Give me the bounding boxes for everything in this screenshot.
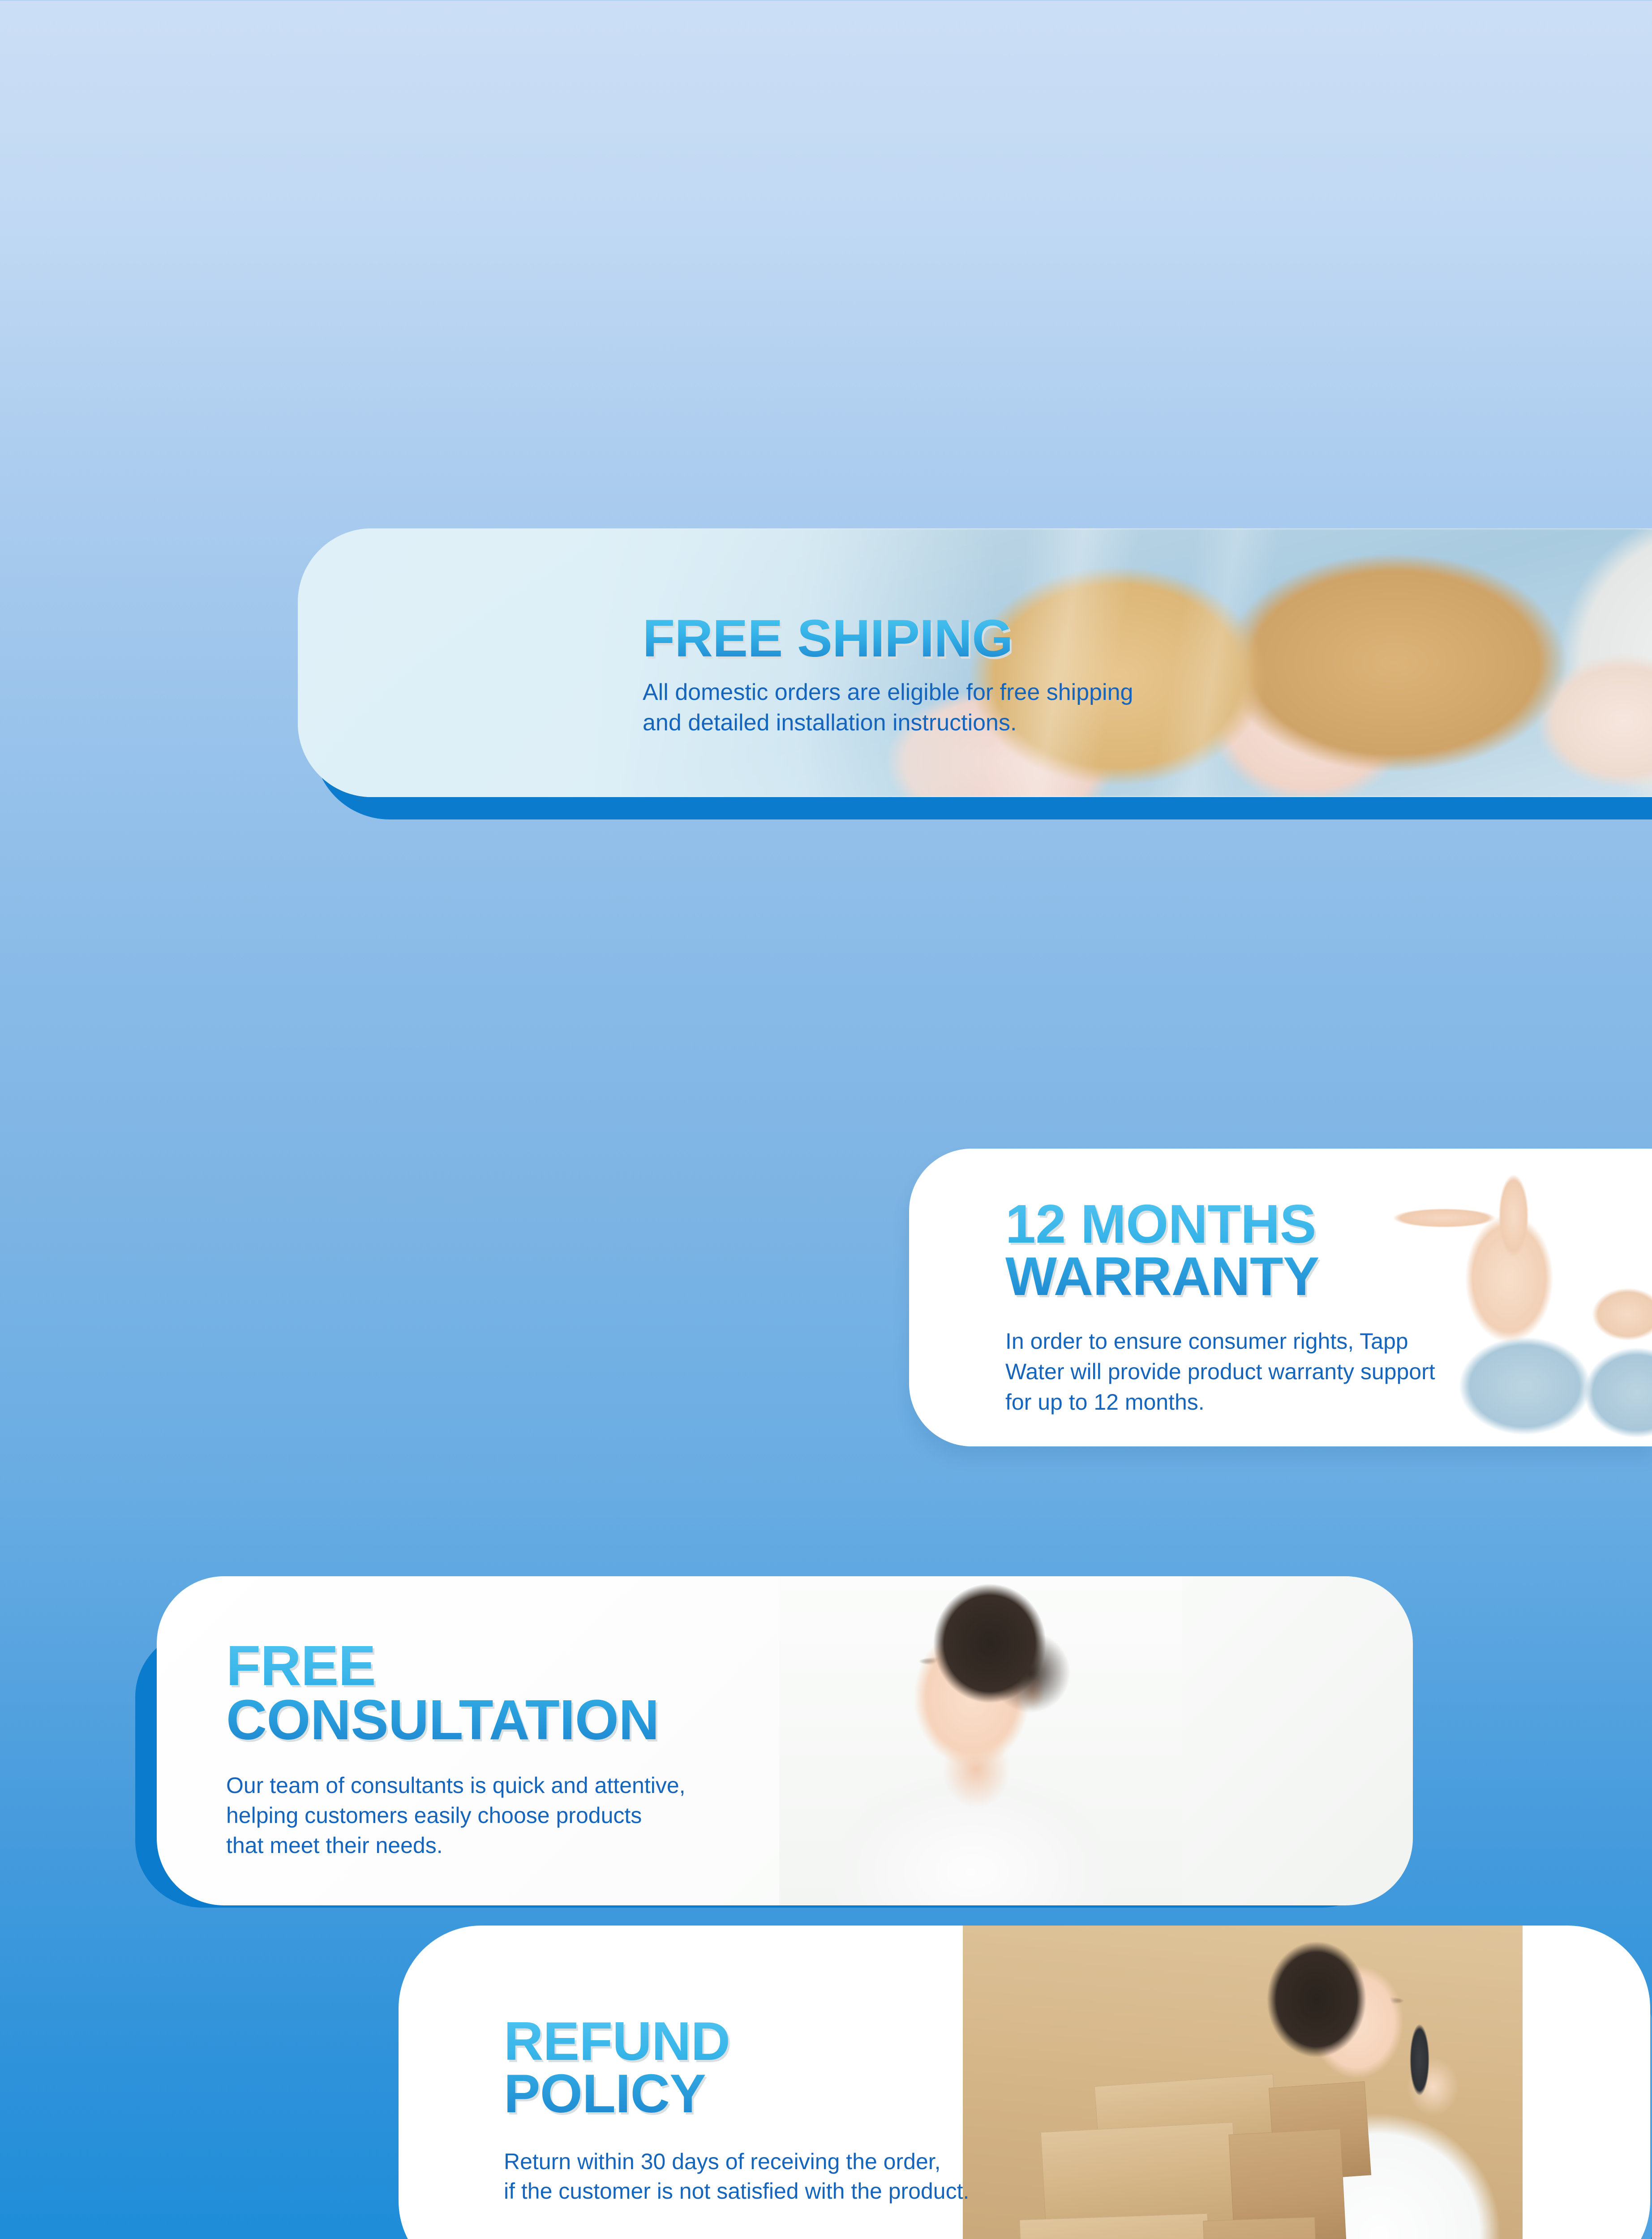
warranty-card[interactable]: 12 MONTHS WARRANTY In order to ensure co…	[909, 1149, 1652, 1446]
refund-policy-body: Return within 30 days of receiving the o…	[504, 2147, 969, 2206]
warranty-body: In order to ensure consumer rights, Tapp…	[1005, 1326, 1435, 1417]
promo-banner-stage: FREE SHIPING All domestic orders are eli…	[0, 0, 1652, 2239]
free-consultation-title: FREE CONSULTATION	[226, 1639, 686, 1747]
free-consultation-body: Our team of consultants is quick and att…	[226, 1771, 686, 1861]
free-consultation-card[interactable]: FREE CONSULTATION Our team of consultant…	[157, 1576, 1413, 1905]
free-consultation-text-block: FREE CONSULTATION Our team of consultant…	[226, 1639, 686, 1861]
woman-on-phone-with-boxes-photo	[963, 1926, 1523, 2239]
smiling-consultant-woman-photo	[779, 1576, 1182, 1905]
warranty-text-block: 12 MONTHS WARRANTY In order to ensure co…	[1005, 1198, 1435, 1417]
refund-policy-card[interactable]: REFUND POLICY Return within 30 days of r…	[399, 1926, 1650, 2239]
free-shipping-title: FREE SHIPING	[643, 613, 1133, 664]
warranty-title: 12 MONTHS WARRANTY	[1005, 1198, 1435, 1303]
refund-policy-title: REFUND POLICY	[504, 2015, 969, 2120]
refund-policy-text-block: REFUND POLICY Return within 30 days of r…	[504, 2015, 969, 2206]
free-shipping-text-block: FREE SHIPING All domestic orders are eli…	[643, 613, 1133, 738]
free-shipping-body: All domestic orders are eligible for fre…	[643, 678, 1133, 738]
free-shipping-card[interactable]: FREE SHIPING All domestic orders are eli…	[298, 528, 1652, 797]
